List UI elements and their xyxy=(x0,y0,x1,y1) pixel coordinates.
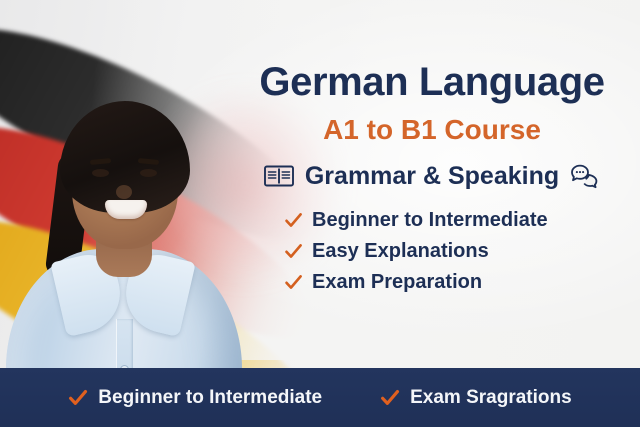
bottom-bar-item: Exam Sragrations xyxy=(380,388,572,408)
subject-eye-left xyxy=(92,169,109,177)
subject-nose xyxy=(116,185,132,199)
check-icon xyxy=(284,211,303,230)
feature-item: Beginner to Intermediate xyxy=(284,209,628,232)
banner-title: German Language xyxy=(236,62,628,102)
feature-label: Easy Explanations xyxy=(312,240,489,263)
content-column: German Language A1 to B1 Course Grammar … xyxy=(236,62,628,294)
check-icon xyxy=(380,388,400,408)
bottom-bar-label: Exam Sragrations xyxy=(410,388,572,407)
speech-bubbles-icon xyxy=(570,163,600,189)
tagline-row: Grammar & Speaking xyxy=(236,163,628,189)
banner-subtitle: A1 to B1 Course xyxy=(236,116,628,144)
subject-smile xyxy=(105,200,147,219)
check-icon xyxy=(68,388,88,408)
open-book-icon xyxy=(264,164,294,188)
feature-item: Exam Preparation xyxy=(284,271,628,294)
bottom-highlight-bar: Beginner to Intermediate Exam Sragration… xyxy=(0,368,640,427)
bottom-bar-label: Beginner to Intermediate xyxy=(98,388,322,407)
tagline-text: Grammar & Speaking xyxy=(305,164,559,189)
bottom-bar-item: Beginner to Intermediate xyxy=(68,388,322,408)
feature-label: Exam Preparation xyxy=(312,271,482,294)
subject-eye-right xyxy=(140,169,157,177)
feature-label: Beginner to Intermediate xyxy=(312,209,548,232)
feature-item: Easy Explanations xyxy=(284,240,628,263)
course-promo-banner: German Language A1 to B1 Course Grammar … xyxy=(0,0,640,427)
check-icon xyxy=(284,242,303,261)
feature-list: Beginner to Intermediate Easy Explanatio… xyxy=(236,209,628,294)
check-icon xyxy=(284,273,303,292)
